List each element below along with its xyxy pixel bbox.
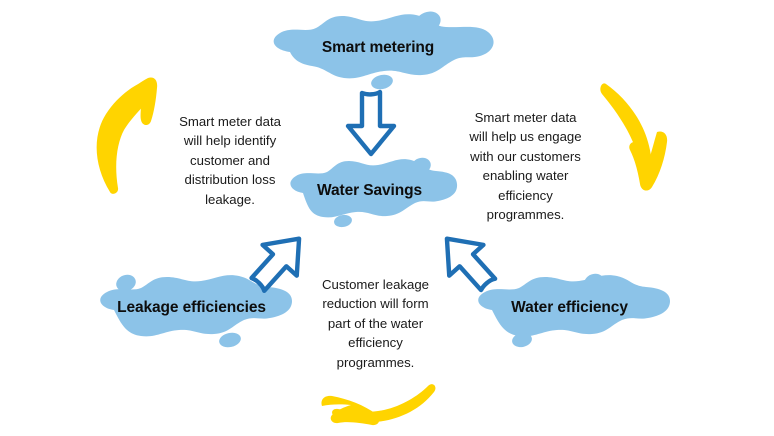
diagram-canvas: Smart metering Water Savings Leakage eff… <box>0 0 774 436</box>
arrow-up-right-icon <box>240 222 318 300</box>
caption-right: Smart meter data will help us engage wit… <box>448 108 603 224</box>
arrow-curved-up-yellow <box>86 72 164 194</box>
node-label-leakage-efficiencies: Leakage efficiencies <box>117 300 266 316</box>
arrow-down-blue <box>335 88 407 160</box>
node-smart-metering[interactable]: Smart metering <box>252 6 504 90</box>
curved-arrow-down-icon <box>600 72 680 194</box>
arrow-up-left-blue <box>428 222 506 300</box>
arrow-down-icon <box>335 88 407 160</box>
curved-arrow-up-icon <box>86 72 164 194</box>
caption-left: Smart meter data will help identify cust… <box>155 112 305 209</box>
arrow-curved-down-yellow <box>600 72 680 194</box>
arrow-up-right-blue <box>240 222 318 300</box>
arrow-curved-left-yellow <box>310 378 438 436</box>
node-label-smart-metering: Smart metering <box>322 40 434 56</box>
node-label-water-savings: Water Savings <box>317 183 422 199</box>
node-label-water-efficiency: Water efficiency <box>511 300 628 316</box>
blob-satellite-dot <box>218 331 242 348</box>
curved-arrow-left-icon <box>310 378 438 436</box>
arrow-up-left-icon <box>428 222 506 300</box>
